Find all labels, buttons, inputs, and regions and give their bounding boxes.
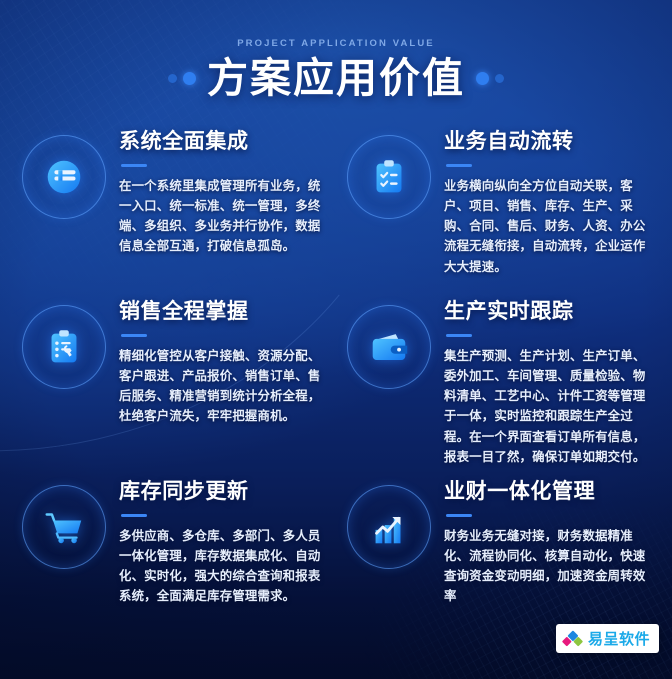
clipboard-checklist-icon (366, 154, 412, 200)
value-card-grid: 系统全面集成 在一个系统里集成管理所有业务，统一入口、统一标准、统一管理，多终端… (22, 127, 664, 607)
title-dots-right (476, 72, 504, 85)
card-divider (121, 334, 147, 337)
card-divider (446, 514, 472, 517)
dot-small-right (495, 74, 504, 83)
icon-container (347, 135, 431, 219)
card-description: 精细化管控从客户接触、资源分配、客户跟进、产品报价、销售订单、售后服务、精准营销… (119, 346, 329, 426)
integration-lines-icon (41, 154, 87, 200)
icon-container (347, 305, 431, 389)
poster-header: PROJECT APPLICATION VALUE 方案应用价值 (0, 38, 672, 100)
value-card: 业财一体化管理 财务业务无缝对接，财务数据精准化、流程协同化、核算自动化，快速查… (347, 477, 672, 607)
card-divider (121, 164, 147, 167)
card-title: 销售全程掌握 (119, 299, 347, 323)
card-description: 业务横向纵向全方位自动关联，客户、项目、销售、库存、生产、采购、合同、售后、财务… (444, 176, 654, 276)
card-title: 业务自动流转 (444, 129, 672, 153)
dot-large-left (183, 72, 196, 85)
value-card: 库存同步更新 多供应商、多仓库、多部门、多人员一体化管理，库存数据集成化、自动化… (22, 477, 347, 607)
icon-container (22, 135, 106, 219)
card-title: 系统全面集成 (119, 129, 347, 153)
card-body: 销售全程掌握 精细化管控从客户接触、资源分配、客户跟进、产品报价、销售订单、售后… (119, 297, 347, 477)
icon-container (22, 485, 106, 569)
card-body: 业务自动流转 业务横向纵向全方位自动关联，客户、项目、销售、库存、生产、采购、合… (444, 127, 672, 297)
shopping-cart-icon (41, 504, 87, 550)
dot-large-right (476, 72, 489, 85)
card-body: 库存同步更新 多供应商、多仓库、多部门、多人员一体化管理，库存数据集成化、自动化… (119, 477, 347, 607)
card-title: 业财一体化管理 (444, 479, 672, 503)
card-description: 财务业务无缝对接，财务数据精准化、流程协同化、核算自动化，快速查询资金变动明细，… (444, 526, 654, 606)
value-card: 系统全面集成 在一个系统里集成管理所有业务，统一入口、统一标准、统一管理，多终端… (22, 127, 347, 297)
clipboard-tool-icon (41, 324, 87, 370)
logo-text: 易呈软件 (588, 628, 650, 649)
dot-small-left (168, 74, 177, 83)
title-dots-left (168, 72, 196, 85)
title-row: 方案应用价值 (0, 56, 672, 100)
page-title: 方案应用价值 (207, 56, 465, 100)
wallet-icon (366, 324, 412, 370)
value-card: 销售全程掌握 精细化管控从客户接触、资源分配、客户跟进、产品报价、销售订单、售后… (22, 297, 347, 477)
eyebrow-text: PROJECT APPLICATION VALUE (0, 38, 672, 49)
card-body: 业财一体化管理 财务业务无缝对接，财务数据精准化、流程协同化、核算自动化，快速查… (444, 477, 672, 607)
value-card: 业务自动流转 业务横向纵向全方位自动关联，客户、项目、销售、库存、生产、采购、合… (347, 127, 672, 297)
value-card: 生产实时跟踪 集生产预测、生产计划、生产订单、委外加工、车间管理、质量检验、物料… (347, 297, 672, 477)
icon-container (347, 485, 431, 569)
card-divider (446, 164, 472, 167)
brand-logo[interactable]: 易呈软件 (556, 624, 659, 653)
logo-diamond-mark-icon (562, 628, 583, 649)
card-body: 系统全面集成 在一个系统里集成管理所有业务，统一入口、统一标准、统一管理，多终端… (119, 127, 347, 297)
icon-container (22, 305, 106, 389)
card-divider (121, 514, 147, 517)
bar-chart-arrow-icon (366, 504, 412, 550)
card-divider (446, 334, 472, 337)
card-title: 库存同步更新 (119, 479, 347, 503)
card-title: 生产实时跟踪 (444, 299, 672, 323)
poster-canvas: PROJECT APPLICATION VALUE 方案应用价值 (0, 0, 672, 679)
card-body: 生产实时跟踪 集生产预测、生产计划、生产订单、委外加工、车间管理、质量检验、物料… (444, 297, 672, 477)
card-description: 在一个系统里集成管理所有业务，统一入口、统一标准、统一管理，多终端、多组织、多业… (119, 176, 329, 256)
card-description: 集生产预测、生产计划、生产订单、委外加工、车间管理、质量检验、物料清单、工艺中心… (444, 346, 654, 467)
card-description: 多供应商、多仓库、多部门、多人员一体化管理，库存数据集成化、自动化、实时化，强大… (119, 526, 329, 606)
